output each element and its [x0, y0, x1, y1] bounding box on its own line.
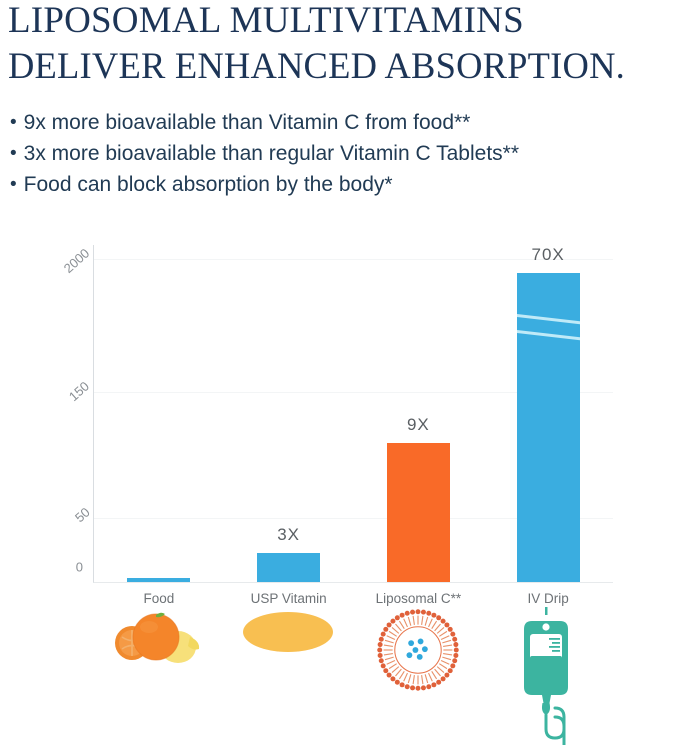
bar-value-label: 3X: [224, 525, 354, 545]
bullet-text: Food can block absorption by the body*: [24, 169, 393, 200]
bullet-text: 9x more bioavailable than Vitamin C from…: [24, 107, 471, 138]
axis-break-line: [517, 329, 580, 341]
chart-bar[interactable]: [387, 443, 450, 582]
headline-line-1: LIPOSOMAL MULTIVITAMINS: [8, 0, 676, 43]
chart-bar-group: 9XLiposomal C**: [354, 245, 484, 582]
bullet-list: • 9x more bioavailable than Vitamin C fr…: [10, 107, 675, 200]
chart-bar-group: 70XIV Drip: [483, 245, 613, 582]
category-icons-row: [93, 605, 613, 743]
headline-block: LIPOSOMAL MULTIVITAMINS DELIVER ENHANCED…: [8, 0, 676, 88]
bioavailability-bar-chart: 2000150500 Food3XUSP Vitamin9XLiposomal …: [0, 205, 679, 605]
headline-line-2: DELIVER ENHANCED ABSORPTION.: [8, 43, 676, 88]
oranges-lemon-icon: [112, 607, 204, 669]
bullet-text: 3x more bioavailable than regular Vitami…: [24, 138, 519, 169]
chart-bar-group: Food: [94, 245, 224, 582]
x-axis-tick-label: USP Vitamin: [224, 582, 354, 606]
chart-bar[interactable]: [257, 553, 320, 582]
bullet-dot-icon: •: [10, 107, 17, 138]
bar-value-label: 70X: [483, 245, 613, 265]
x-axis-tick-label: Food: [94, 582, 224, 606]
bar-value-label: 9X: [354, 415, 484, 435]
y-axis-tick-label: 0: [76, 560, 94, 575]
chart-bar-group: 3XUSP Vitamin: [224, 245, 354, 582]
chart-bar[interactable]: [517, 273, 580, 582]
iv-drip-bag-icon: [504, 607, 592, 745]
x-axis-tick-label: Liposomal C**: [354, 582, 484, 606]
x-axis-tick-label: IV Drip: [483, 582, 613, 606]
bullet-item: • Food can block absorption by the body*: [10, 169, 675, 200]
chart-plot-area: 2000150500 Food3XUSP Vitamin9XLiposomal …: [93, 245, 613, 583]
liposome-icon: [375, 607, 461, 693]
icon-cell-liposomal: [353, 605, 483, 743]
bullet-item: • 3x more bioavailable than regular Vita…: [10, 138, 675, 169]
chart-bars: Food3XUSP Vitamin9XLiposomal C**70XIV Dr…: [94, 245, 613, 582]
bullet-dot-icon: •: [10, 169, 17, 200]
pill-tablet-icon: [242, 607, 334, 657]
bullet-item: • 9x more bioavailable than Vitamin C fr…: [10, 107, 675, 138]
bullet-dot-icon: •: [10, 138, 17, 169]
axis-break-line: [517, 314, 580, 326]
icon-cell-food: [93, 605, 223, 743]
icon-cell-iv-drip: [483, 605, 613, 743]
icon-cell-usp-vitamin: [223, 605, 353, 743]
